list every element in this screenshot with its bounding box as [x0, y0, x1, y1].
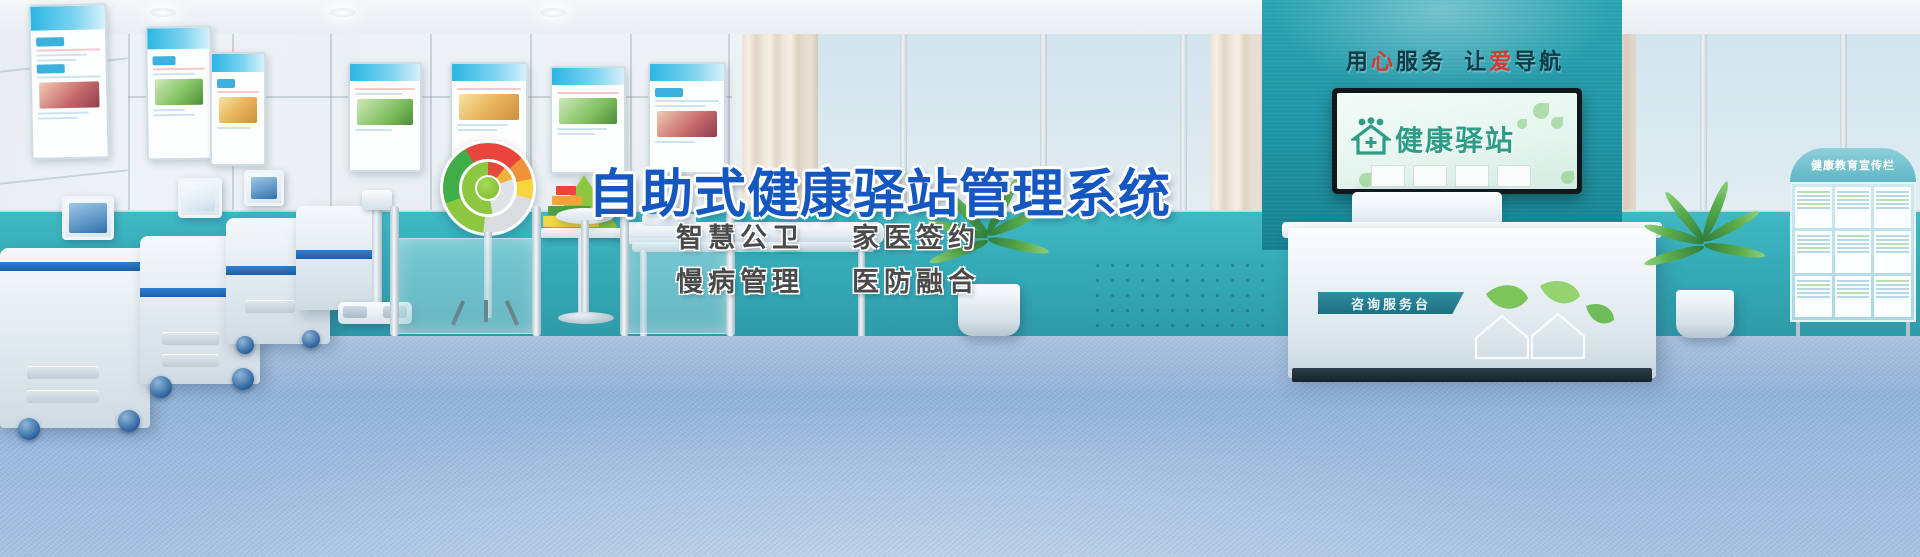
kiosk-screen — [185, 185, 215, 211]
reception-desk-base — [1292, 368, 1652, 382]
kiosk-screen — [69, 203, 107, 233]
poster-text-line — [457, 88, 521, 90]
poster-text-line — [153, 114, 195, 117]
desk-plaque-label: 咨询服务台 — [1351, 294, 1431, 313]
kiosk-drawer[interactable] — [27, 390, 99, 403]
pyramid-tier — [556, 186, 576, 195]
health-station-hero-banner: 用心服务 让爱导航 健康驿站 — [0, 0, 1920, 557]
partition-post — [532, 206, 541, 336]
perforated-wall-panel — [1090, 258, 1270, 336]
poster-text-line — [355, 93, 403, 95]
reception-wall-slogan: 用心服务 让爱导航 — [1330, 44, 1580, 76]
poster-header-band — [147, 28, 209, 50]
leaflet[interactable] — [1835, 276, 1872, 317]
display-screen-title: 健康驿站 — [1395, 119, 1515, 159]
scale-footpad — [343, 306, 367, 318]
poster-text-line — [355, 88, 415, 90]
kiosk-caster — [302, 330, 320, 348]
kiosk-drawer[interactable] — [162, 332, 220, 345]
leaflet[interactable] — [1795, 187, 1832, 228]
slogan-word-navigate: 导航 — [1514, 49, 1564, 74]
leaflet[interactable] — [1874, 187, 1911, 228]
kiosk-monitor[interactable] — [178, 178, 222, 218]
kiosk-drawer[interactable] — [27, 366, 99, 379]
poster-text-line — [457, 124, 508, 126]
desk-plaque: 咨询服务台 — [1318, 292, 1464, 314]
leaflet[interactable] — [1835, 231, 1872, 272]
screen-thumbnail — [1497, 165, 1531, 187]
leaflet[interactable] — [1874, 231, 1911, 272]
kiosk-drawer[interactable] — [245, 300, 295, 313]
ceiling-downlight — [330, 8, 356, 17]
ceiling-downlight — [150, 8, 176, 17]
leaflet[interactable] — [1795, 276, 1832, 317]
poster-chip — [37, 64, 65, 74]
poster-image — [459, 94, 519, 120]
poster-text-line — [38, 112, 89, 115]
poster-body — [650, 81, 724, 150]
slogan-char-1: 用 — [1346, 49, 1371, 74]
health-education-rack[interactable]: 健康教育宣传栏 — [1790, 148, 1916, 338]
nutrition-wheel-icon — [440, 140, 536, 236]
slogan-word-service: 服务 — [1396, 49, 1446, 74]
poster-header-band — [650, 64, 724, 81]
poster-text-line — [557, 92, 619, 94]
reception-display-screen[interactable]: 健康驿站 — [1332, 88, 1582, 194]
screen-thumbnail — [1413, 165, 1447, 187]
poster-text-line — [153, 67, 205, 70]
health-kiosk[interactable] — [296, 206, 374, 310]
curtain — [1210, 0, 1266, 232]
desk-leaf-graphic-icon — [1458, 276, 1618, 362]
kiosk-caster — [118, 410, 140, 432]
poster-text-line — [37, 59, 77, 62]
rack-leg — [1906, 322, 1910, 338]
poster-text-line — [655, 141, 695, 143]
wall-poster — [28, 3, 109, 160]
ceiling — [0, 0, 1920, 34]
poster-body — [552, 85, 624, 142]
screen-thumbnail — [1455, 165, 1489, 187]
poster-header-band — [212, 54, 264, 72]
poster-header-band — [350, 64, 420, 81]
poster-chip — [655, 88, 683, 97]
window-mullion — [1180, 0, 1187, 230]
poster-body — [350, 81, 420, 138]
health-house-logo-icon — [1351, 117, 1391, 155]
kiosk-accent-band — [0, 262, 150, 271]
poster-text-line — [355, 129, 392, 131]
poster-text-line — [37, 75, 101, 78]
potted-plant-icon — [1676, 290, 1734, 338]
poster-header-band — [452, 64, 526, 81]
poster-body — [31, 29, 107, 127]
rack-leaflet-grid — [1790, 182, 1916, 322]
kiosk-caster — [232, 368, 254, 390]
health-kiosk[interactable] — [0, 248, 150, 428]
poster-text-line — [557, 128, 607, 130]
scale-column — [372, 198, 382, 310]
leaf-decoration — [1551, 117, 1563, 129]
feature-item-smart-public-health: 智慧公卫 — [676, 216, 852, 256]
poster-chip — [152, 56, 175, 65]
poster-text-line — [557, 133, 595, 135]
poster-image — [357, 99, 413, 125]
display-screen-content: 健康驿站 — [1337, 93, 1577, 189]
kiosk-caster — [150, 376, 172, 398]
kiosk-monitor[interactable] — [62, 196, 114, 240]
wall-poster — [145, 26, 213, 161]
screen-thumbnail — [1371, 165, 1405, 187]
poster-text-line — [36, 54, 87, 57]
poster-header-band — [30, 5, 104, 31]
partition-post — [390, 206, 399, 336]
feature-item-family-doctor-contract: 家医签约 — [852, 216, 1028, 256]
poster-image — [155, 78, 203, 105]
slogan-char-love: 爱 — [1489, 49, 1514, 74]
poster-chip — [36, 37, 64, 47]
rack-header: 健康教育宣传栏 — [1790, 148, 1916, 182]
ceiling-downlight — [540, 8, 566, 17]
kiosk-accent-band — [296, 250, 374, 259]
poster-text-line — [36, 48, 100, 51]
glass-partition — [396, 238, 536, 334]
poster-text-line — [153, 109, 185, 111]
poster-body — [147, 48, 210, 123]
poster-image — [39, 82, 100, 109]
poster-body — [452, 81, 526, 138]
leaflet[interactable] — [1795, 231, 1832, 272]
kiosk-caster — [18, 418, 40, 440]
poster-image — [219, 97, 257, 123]
reception-desk-riser — [1352, 192, 1502, 226]
poster-text-line — [38, 117, 78, 120]
feature-list: 智慧公卫 家医签约 慢病管理 医防融合 — [676, 216, 1028, 300]
rack-legs — [1796, 322, 1910, 338]
poster-text-line — [655, 105, 706, 107]
leaf-decoration — [1533, 103, 1549, 119]
stool-column — [581, 220, 589, 316]
slogan-char-let: 让 — [1464, 49, 1489, 74]
kiosk-screen — [251, 177, 277, 199]
leaflet[interactable] — [1874, 276, 1911, 317]
poster-header-band — [552, 68, 624, 85]
poster-text-line — [153, 73, 195, 76]
feature-item-chronic-disease-management: 慢病管理 — [676, 260, 852, 300]
pyramid-tier — [552, 196, 582, 205]
scale-display[interactable] — [362, 190, 392, 210]
poster-image — [559, 98, 617, 124]
poster-text-line — [217, 127, 251, 129]
poster-text-line — [217, 91, 259, 93]
poster-text-line — [457, 129, 497, 131]
poster-body — [212, 72, 264, 136]
rack-header-label: 健康教育宣传栏 — [1811, 157, 1895, 173]
slogan-char-heart: 心 — [1371, 49, 1396, 74]
poster-image — [657, 111, 717, 137]
kiosk-monitor[interactable] — [244, 170, 284, 206]
kiosk-drawer[interactable] — [162, 354, 220, 367]
feature-item-medical-prevention-integration: 医防融合 — [852, 260, 1028, 300]
poster-text-line — [655, 100, 719, 102]
poster-chip — [217, 79, 235, 88]
leaf-decoration — [1517, 119, 1527, 129]
leaflet[interactable] — [1835, 187, 1872, 228]
rack-leg — [1796, 322, 1800, 338]
stool-base — [558, 312, 614, 324]
leaf-decoration — [1561, 171, 1574, 184]
wall-poster — [348, 62, 422, 172]
wall-poster — [210, 52, 266, 166]
kiosk-caster — [236, 336, 254, 354]
